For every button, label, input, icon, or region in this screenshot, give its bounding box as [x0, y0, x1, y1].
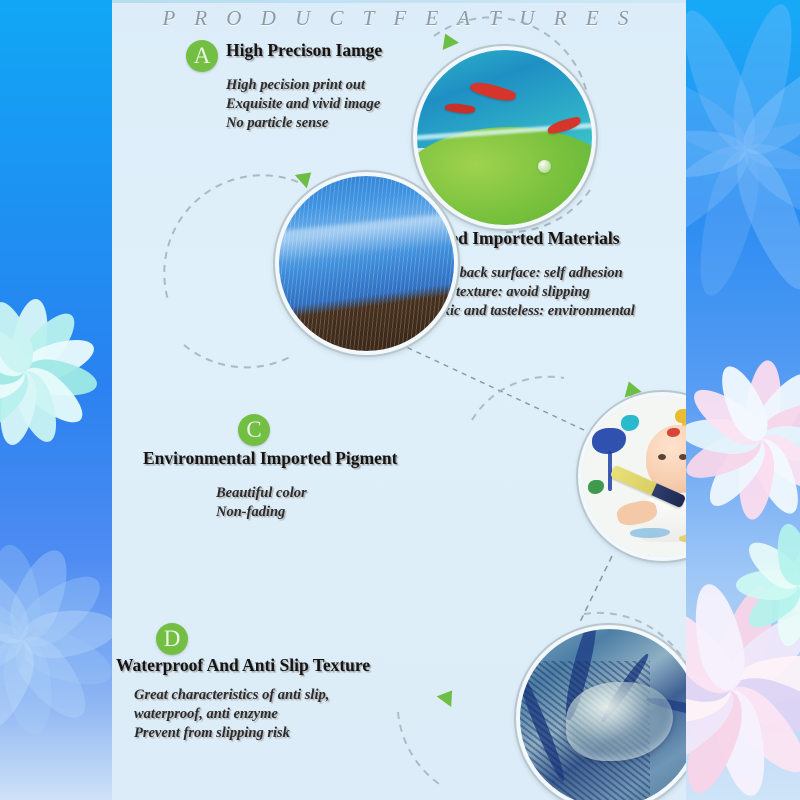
feature-image-c: [578, 392, 686, 561]
content-panel: P R O D U C T F E A T U R E S A High Pre…: [112, 0, 686, 800]
arrow-pointer-d: [437, 685, 460, 707]
feature-heading-d: Waterproof And Anti Slip Texture: [116, 655, 370, 676]
feature-line: Exquisite and vivid image: [226, 95, 380, 114]
left-decorative-border: [0, 0, 112, 800]
product-features-infographic: P R O D U C T F E A T U R E S A High Pre…: [0, 0, 800, 800]
right-decorative-border: [686, 0, 800, 800]
feature-badge-d: D: [156, 623, 188, 655]
feature-badge-c: C: [238, 414, 270, 446]
feature-line: Beautiful color: [216, 484, 307, 503]
feature-badge-a: A: [186, 40, 218, 72]
feature-line: No particle sense: [226, 114, 380, 133]
feature-lines-c: Beautiful color Non-fading: [216, 484, 307, 522]
feature-line: Non-fading: [216, 503, 307, 522]
feature-heading-a: High Precison Iamge: [226, 40, 382, 61]
feature-image-b: [275, 172, 458, 355]
feature-line: Prevent from slipping risk: [134, 724, 329, 743]
panel-top-divider: [112, 0, 686, 3]
page-title: P R O D U C T F E A T U R E S: [112, 6, 686, 31]
feature-lines-d: Great characteristics of anti slip, wate…: [134, 686, 329, 743]
feature-lines-a: High pecision print out Exquisite and vi…: [226, 76, 380, 133]
feature-image-d: [516, 625, 686, 800]
feature-line: waterproof, anti enzyme: [134, 705, 329, 724]
arrow-pointer-a: [437, 30, 459, 50]
feature-line: Great characteristics of anti slip,: [134, 686, 329, 705]
feature-heading-c: Environmental Imported Pigment: [143, 448, 397, 469]
feature-line: High pecision print out: [226, 76, 380, 95]
